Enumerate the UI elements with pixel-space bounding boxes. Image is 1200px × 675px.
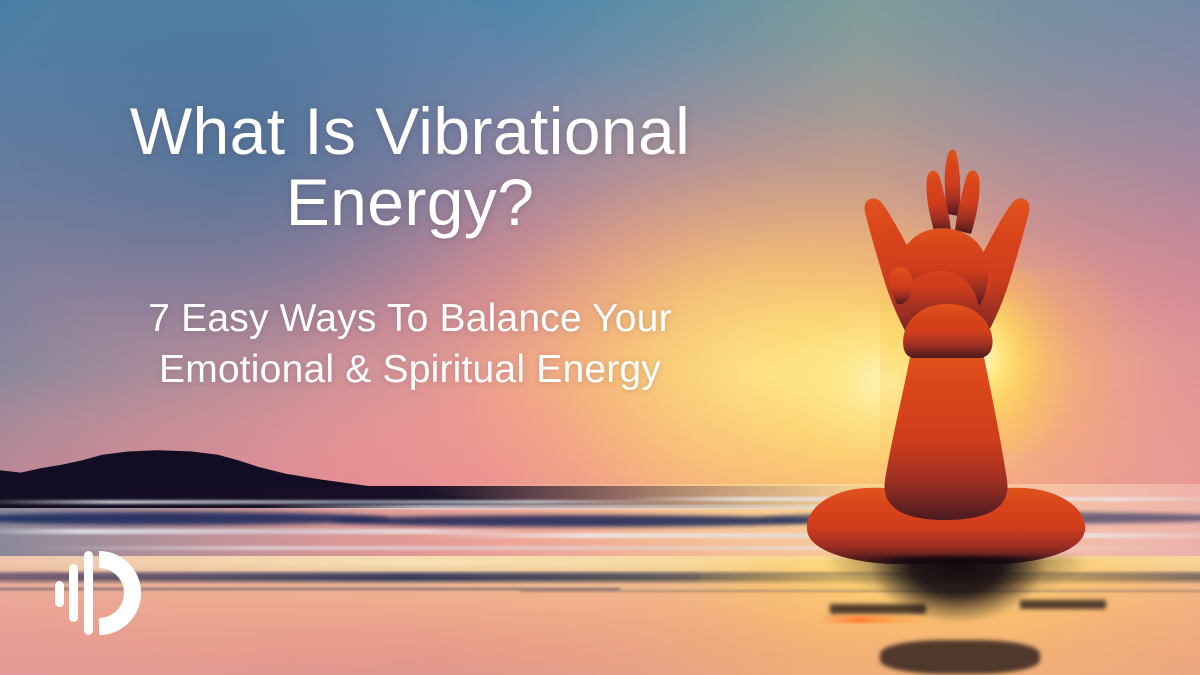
wave-foam-line [0, 500, 670, 504]
yoga-figure-silhouette [795, 138, 1115, 568]
hero-banner: What Is Vibrational Energy? 7 Easy Ways … [0, 0, 1200, 675]
wave-shadow [330, 515, 830, 527]
reflection-streak [1020, 600, 1106, 609]
reflection-streak [830, 604, 926, 614]
reflection-streak [880, 640, 1040, 674]
page-title: What Is Vibrational Energy? [0, 96, 820, 239]
brand-logo[interactable] [52, 548, 157, 638]
reflection-highlight [820, 616, 930, 623]
page-subtitle: 7 Easy Ways To Balance Your Emotional & … [0, 293, 820, 396]
